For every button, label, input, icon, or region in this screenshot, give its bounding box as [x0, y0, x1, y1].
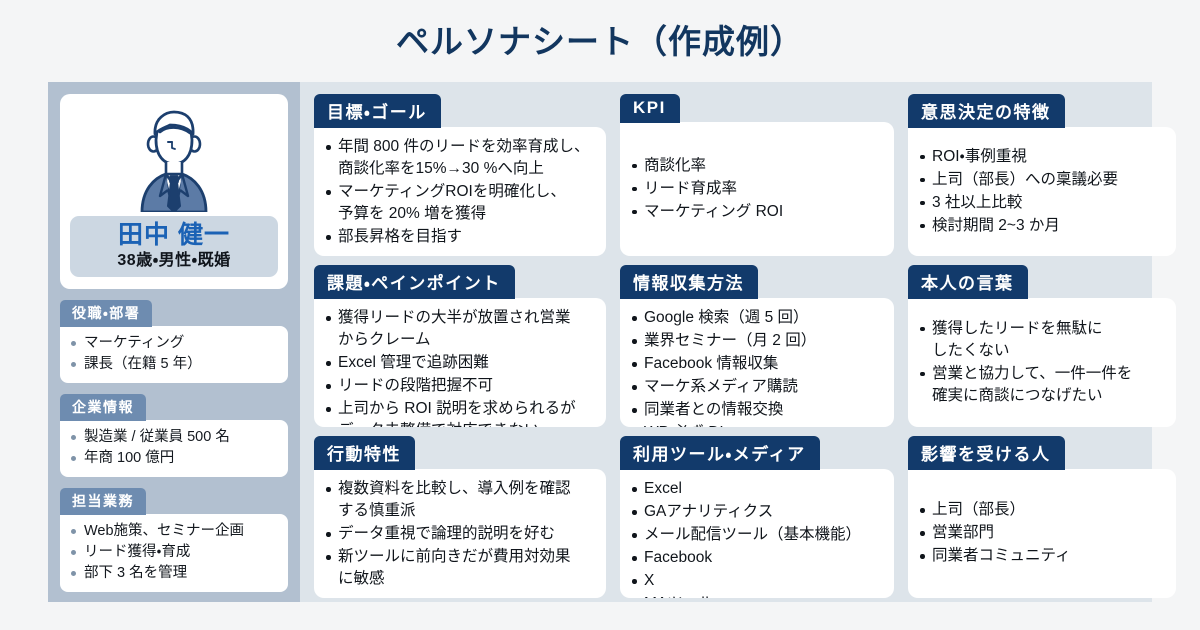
- list-item: マーケティングROIを明確化し、予算を 20% 増を獲得: [325, 181, 594, 225]
- sidebar-section-body: Web施策、セミナー企画リード獲得・育成部下 3 名を管理: [60, 514, 288, 592]
- list-item-line: マーケティングROIを明確化し、: [338, 183, 566, 200]
- sidebar-section: 担当業務Web施策、セミナー企画リード獲得・育成部下 3 名を管理: [60, 488, 288, 592]
- list-item: Web施策、セミナー企画: [70, 521, 278, 542]
- sidebar-section-label: 企業情報: [60, 394, 146, 421]
- profile-sidebar: 田中 健一 38歳・男性・既婚 役職・部署マーケティング課長（在籍 5 年）企業…: [48, 82, 300, 602]
- list-item: 年商 100 億円: [70, 448, 278, 469]
- list-item-line: 予算を 20% 増を獲得: [338, 203, 594, 225]
- list-item-line: 営業と協力して、一件一件を: [932, 365, 1132, 382]
- title-bar: ペルソナシート（作成例）: [0, 0, 1200, 78]
- list-item-line: リードの段階把握不可: [338, 377, 493, 394]
- card-body: 年間 800 件のリードを効率育成し、商談化率を15%→30 %へ向上マーケティ…: [314, 127, 606, 256]
- info-card: 課題・ペインポイント獲得リードの大半が放置され営業からクレームExcel 管理で…: [314, 265, 606, 427]
- info-card: 情報収集方法Google 検索（週 5 回）業界セミナー（月 2 回）Faceb…: [620, 265, 894, 427]
- list-item-line: マーケティング ROI: [644, 203, 783, 220]
- list-item: マーケティング ROI: [631, 201, 882, 223]
- list-item-line: からクレーム: [338, 329, 594, 351]
- list-item-line: Excel 管理で追跡困難: [338, 354, 489, 371]
- page-title: ペルソナシート（作成例）: [396, 15, 804, 63]
- list-item-line: X: [644, 572, 654, 589]
- info-card: 目標・ゴール年間 800 件のリードを効率育成し、商談化率を15%→30 %へ向…: [314, 94, 606, 256]
- list-item: マーケ系メディア購読: [631, 376, 882, 398]
- list-item-line: に敏感: [338, 568, 594, 590]
- sidebar-section: 企業情報製造業 / 従業員 500 名年商 100 億円: [60, 394, 288, 477]
- sidebar-section-label: 役職・部署: [60, 300, 152, 327]
- sidebar-section-body: マーケティング課長（在籍 5 年）: [60, 326, 288, 383]
- list-item: Excel: [631, 478, 882, 500]
- card-title: KPI: [620, 94, 680, 123]
- list-item: 獲得したリードを無駄にしたくない: [919, 318, 1164, 362]
- list-item: WP 必ず DL: [631, 422, 882, 427]
- persona-board: 田中 健一 38歳・男性・既婚 役職・部署マーケティング課長（在籍 5 年）企業…: [48, 82, 1152, 602]
- list-item-line: する慎重派: [338, 500, 594, 522]
- list-item: 課長（在籍 5 年）: [70, 354, 278, 375]
- list-item-line: 獲得リードの大半が放置され営業: [338, 309, 571, 326]
- list-item: メール配信ツール（基本機能）: [631, 524, 882, 546]
- list-item-line: したくない: [932, 340, 1164, 362]
- list-item: 営業部門: [919, 522, 1164, 544]
- list-item-line: ROI・事例重視: [932, 148, 1027, 165]
- list-item: 獲得リードの大半が放置され営業からクレーム: [325, 307, 594, 351]
- list-item-line: 同業者コミュニティ: [932, 547, 1071, 564]
- card-title: 行動特性: [314, 436, 415, 470]
- list-item-line: 商談化率: [644, 157, 706, 174]
- list-item: MAツール: [631, 593, 882, 598]
- card-body: 複数資料を比較し、導入例を確認する慎重派データ重視で論理的説明を好む新ツールに前…: [314, 469, 606, 598]
- list-item-line: 獲得したリードを無駄に: [932, 320, 1103, 337]
- list-item-line: 上司（部長）: [932, 501, 1025, 518]
- card-title: 利用ツール・メディア: [620, 436, 820, 470]
- sidebar-sections: 役職・部署マーケティング課長（在籍 5 年）企業情報製造業 / 従業員 500 …: [60, 289, 288, 592]
- card-body: 上司（部長）営業部門同業者コミュニティ: [908, 469, 1176, 598]
- list-item: 検討期間 2~3 か月: [919, 215, 1164, 237]
- card-title: 課題・ペインポイント: [314, 265, 515, 299]
- list-item-line: データ未整備で対応できない: [338, 420, 594, 427]
- info-card: 意思決定の特徴ROI・事例重視上司（部長）への稟議必要3 社以上比較検討期間 2…: [908, 94, 1176, 256]
- list-item-line: 検討期間 2~3 か月: [932, 217, 1060, 234]
- card-body: ExcelGAアナリティクスメール配信ツール（基本機能）FacebookXMAツ…: [620, 469, 894, 598]
- list-item: Excel 管理で追跡困難: [325, 352, 594, 374]
- list-item: リード育成率: [631, 178, 882, 200]
- list-item: マーケティング: [70, 333, 278, 354]
- person-meta: 38歳・男性・既婚: [74, 251, 274, 270]
- list-item-line: 営業部門: [932, 524, 994, 541]
- card-body: 獲得リードの大半が放置され営業からクレームExcel 管理で追跡困難リードの段階…: [314, 298, 606, 427]
- list-item-line: 同業者との情報交換: [644, 401, 783, 418]
- list-item-line: Facebook 情報収集: [644, 355, 778, 372]
- card-title: 情報収集方法: [620, 265, 758, 299]
- list-item: データ重視で論理的説明を好む: [325, 523, 594, 545]
- list-item: 年間 800 件のリードを効率育成し、商談化率を15%→30 %へ向上: [325, 136, 594, 180]
- list-item-line: Excel: [644, 480, 682, 497]
- list-item: Facebook: [631, 547, 882, 569]
- list-item: 業界セミナー（月 2 回）: [631, 330, 882, 352]
- businessman-avatar-icon: [122, 104, 226, 212]
- list-item-line: 複数資料を比較し、導入例を確認: [338, 480, 571, 497]
- list-item: リード獲得・育成: [70, 542, 278, 563]
- list-item-line: MAツール: [644, 595, 714, 598]
- list-item: 製造業 / 従業員 500 名: [70, 427, 278, 448]
- list-item-line: メール配信ツール（基本機能）: [644, 526, 861, 543]
- info-card: KPI商談化率リード育成率マーケティング ROI: [620, 94, 894, 256]
- list-item: 同業者コミュニティ: [919, 545, 1164, 567]
- info-card: 本人の言葉獲得したリードを無駄にしたくない営業と協力して、一件一件を確実に商談に…: [908, 265, 1176, 427]
- list-item-line: 確実に商談につなげたい: [932, 385, 1164, 407]
- list-item: Facebook 情報収集: [631, 353, 882, 375]
- list-item: 上司から ROI 説明を求められるがデータ未整備で対応できない: [325, 398, 594, 427]
- list-item: 新ツールに前向きだが費用対効果に敏感: [325, 546, 594, 590]
- list-item-line: 商談化率を15%→30 %へ向上: [338, 158, 594, 180]
- list-item: 商談化率: [631, 155, 882, 177]
- card-body: 商談化率リード育成率マーケティング ROI: [620, 122, 894, 256]
- list-item-line: 3 社以上比較: [932, 194, 1022, 211]
- list-item-line: Facebook: [644, 549, 712, 566]
- card-title: 目標・ゴール: [314, 94, 441, 128]
- card-title: 本人の言葉: [908, 265, 1028, 299]
- card-title: 影響を受ける人: [908, 436, 1065, 470]
- list-item-line: マーケ系メディア購読: [644, 378, 798, 395]
- person-name: 田中 健一: [74, 221, 274, 250]
- list-item: Google 検索（週 5 回）: [631, 307, 882, 329]
- sidebar-section-body: 製造業 / 従業員 500 名年商 100 億円: [60, 420, 288, 477]
- list-item-line: 部長昇格を目指す: [338, 228, 462, 245]
- info-card: 利用ツール・メディアExcelGAアナリティクスメール配信ツール（基本機能）Fa…: [620, 436, 894, 598]
- name-badge: 田中 健一 38歳・男性・既婚: [70, 216, 278, 277]
- list-item: リードの段階把握不可: [325, 375, 594, 397]
- list-item: 上司（部長）: [919, 499, 1164, 521]
- list-item-line: 上司から ROI 説明を求められるが: [338, 400, 576, 417]
- info-card: 影響を受ける人上司（部長）営業部門同業者コミュニティ: [908, 436, 1176, 598]
- sidebar-section: 役職・部署マーケティング課長（在籍 5 年）: [60, 300, 288, 383]
- sidebar-section-label: 担当業務: [60, 488, 146, 515]
- list-item-line: 業界セミナー（月 2 回）: [644, 332, 816, 349]
- list-item-line: 新ツールに前向きだが費用対効果: [338, 548, 571, 565]
- list-item-line: リード育成率: [644, 180, 737, 197]
- list-item: GAアナリティクス: [631, 501, 882, 523]
- list-item-line: 上司（部長）への稟議必要: [932, 171, 1118, 188]
- list-item: 上司（部長）への稟議必要: [919, 169, 1164, 191]
- list-item-line: 年間 800 件のリードを効率育成し、: [338, 138, 589, 155]
- card-title: 意思決定の特徴: [908, 94, 1065, 128]
- persona-sheet-page: ペルソナシート（作成例）: [0, 0, 1200, 630]
- list-item-line: GAアナリティクス: [644, 503, 773, 520]
- card-grid: 目標・ゴール年間 800 件のリードを効率育成し、商談化率を15%→30 %へ向…: [300, 82, 1190, 602]
- list-item: 部下 3 名を管理: [70, 563, 278, 584]
- list-item-line: データ重視で論理的説明を好む: [338, 525, 555, 542]
- list-item: 3 社以上比較: [919, 192, 1164, 214]
- card-body: Google 検索（週 5 回）業界セミナー（月 2 回）Facebook 情報…: [620, 298, 894, 427]
- list-item: X: [631, 570, 882, 592]
- list-item-line: Google 検索（週 5 回）: [644, 309, 809, 326]
- card-body: 獲得したリードを無駄にしたくない営業と協力して、一件一件を確実に商談につなげたい: [908, 298, 1176, 427]
- info-card: 行動特性複数資料を比較し、導入例を確認する慎重派データ重視で論理的説明を好む新ツ…: [314, 436, 606, 598]
- profile-card: 田中 健一 38歳・男性・既婚: [60, 94, 288, 289]
- card-body: ROI・事例重視上司（部長）への稟議必要3 社以上比較検討期間 2~3 か月: [908, 127, 1176, 256]
- list-item: 営業と協力して、一件一件を確実に商談につなげたい: [919, 363, 1164, 407]
- list-item-line: WP 必ず DL: [644, 424, 728, 427]
- list-item: 複数資料を比較し、導入例を確認する慎重派: [325, 478, 594, 522]
- list-item: 同業者との情報交換: [631, 399, 882, 421]
- list-item: ROI・事例重視: [919, 146, 1164, 168]
- list-item: 部長昇格を目指す: [325, 226, 594, 248]
